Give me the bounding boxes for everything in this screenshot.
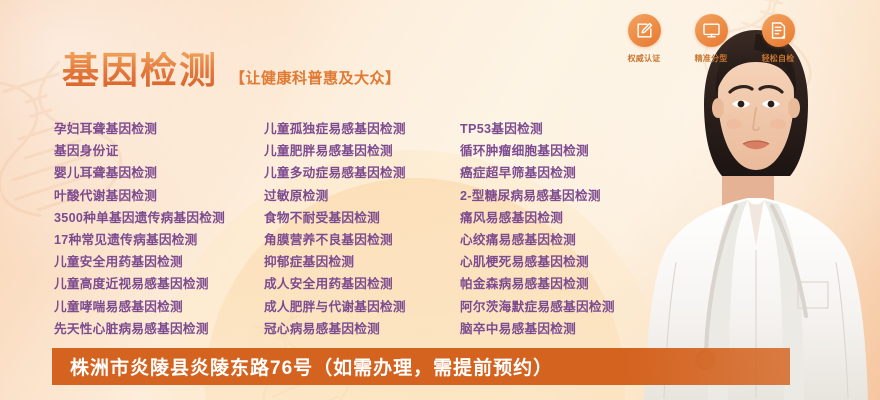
list-item[interactable]: 2-型糖尿病易感基因检测 [460,185,674,207]
list-item[interactable]: 17种常见遗传病基因检测 [54,229,264,251]
badge-precise-typing[interactable]: 精准分型 [685,14,737,64]
list-item[interactable]: 循环肿瘤细胞基因检测 [460,140,674,162]
list-item[interactable]: 婴儿耳聋基因检测 [54,162,264,184]
service-list: 孕妇耳聋基因检测 基因身份证 婴儿耳聋基因检测 叶酸代谢基因检测 3500种单基… [54,118,674,340]
list-item[interactable]: 过敏原检测 [264,185,460,207]
badge-label: 精准分型 [695,53,728,64]
list-item[interactable]: 儿童高度近视易感基因检测 [54,273,264,295]
list-item[interactable]: 痛风易感基因检测 [460,207,674,229]
list-item[interactable]: 3500种单基因遗传病基因检测 [54,207,264,229]
list-item[interactable]: 心绞痛易感基因检测 [460,229,674,251]
title-block: 基因检测 【让健康科普惠及大众】 [62,52,401,89]
list-item[interactable]: 帕金森病易感基因检测 [460,273,674,295]
list-item[interactable]: 食物不耐受基因检测 [264,207,460,229]
list-item[interactable]: 癌症超早筛基因检测 [460,162,674,184]
service-column-2: 儿童孤独症易感基因检测 儿童肥胖易感基因检测 儿童多动症易感基因检测 过敏原检测… [264,118,460,340]
service-column-3: TP53基因检测 循环肿瘤细胞基因检测 癌症超早筛基因检测 2-型糖尿病易感基因… [460,118,674,340]
report-document-icon [769,21,788,40]
list-item[interactable]: 基因身份证 [54,140,264,162]
badge-circle [695,14,728,47]
list-item[interactable]: 儿童多动症易感基因检测 [264,162,460,184]
genetic-testing-poster: 基因检测 【让健康科普惠及大众】 权威认证 精准分型 [0,0,880,400]
list-item[interactable]: 儿童肥胖易感基因检测 [264,140,460,162]
address-text: 株洲市炎陵县炎陵东路76号（如需办理，需提前预约） [52,353,553,380]
badge-circle [628,14,661,47]
list-item[interactable]: 抑郁症基因检测 [264,251,460,273]
service-column-1: 孕妇耳聋基因检测 基因身份证 婴儿耳聋基因检测 叶酸代谢基因检测 3500种单基… [54,118,264,340]
list-item[interactable]: 脑卒中易感基因检测 [460,318,674,340]
feature-badge-group: 权威认证 精准分型 轻松自检 [618,14,804,64]
list-item[interactable]: TP53基因检测 [460,118,674,140]
list-item[interactable]: 阿尔茨海默症易感基因检测 [460,296,674,318]
list-item[interactable]: 成人安全用药基因检测 [264,273,460,295]
list-item[interactable]: 成人肥胖与代谢基因检测 [264,296,460,318]
list-item[interactable]: 孕妇耳聋基因检测 [54,118,264,140]
list-item[interactable]: 儿童孤独症易感基因检测 [264,118,460,140]
list-item[interactable]: 儿童哮喘易感基因检测 [54,296,264,318]
page-subtitle: 【让健康科普惠及大众】 [230,67,401,88]
list-item[interactable]: 先天性心脏病易感基因检测 [54,318,264,340]
edit-certificate-icon [635,21,654,40]
list-item[interactable]: 心肌梗死易感基因检测 [460,251,674,273]
badge-label: 权威认证 [628,53,661,64]
list-item[interactable]: 叶酸代谢基因检测 [54,185,264,207]
badge-label: 轻松自检 [762,53,795,64]
badge-circle [762,14,795,47]
badge-authoritative-certification[interactable]: 权威认证 [618,14,670,64]
address-banner: 株洲市炎陵县炎陵东路76号（如需办理，需提前预约） [52,348,790,385]
list-item[interactable]: 角膜营养不良基因检测 [264,229,460,251]
page-title: 基因检测 [62,52,218,89]
badge-easy-self-test[interactable]: 轻松自检 [752,14,804,64]
list-item[interactable]: 儿童安全用药基因检测 [54,251,264,273]
list-item[interactable]: 冠心病易感基因检测 [264,318,460,340]
monitor-icon [702,21,721,40]
